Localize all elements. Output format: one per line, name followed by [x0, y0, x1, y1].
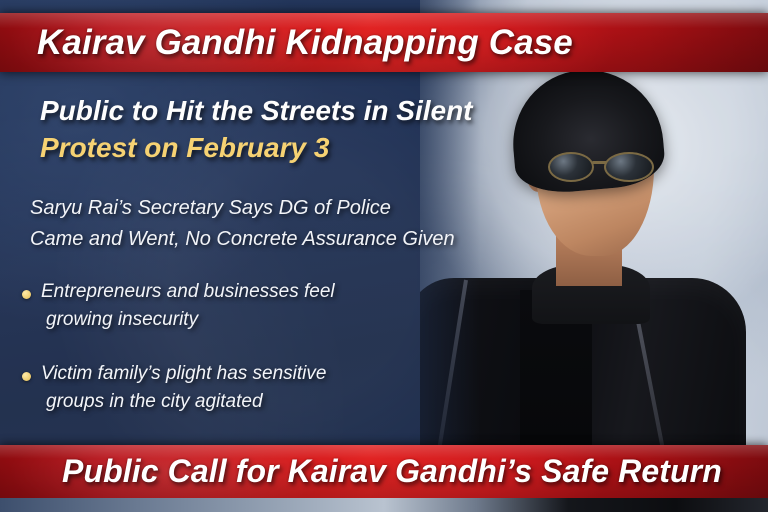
bullet-list: Entrepreneurs and businesses feel growin…	[22, 278, 422, 442]
list-item: Entrepreneurs and businesses feel growin…	[22, 278, 422, 334]
bullet-1-line-2: growing insecurity	[41, 306, 335, 334]
top-banner-title: Kairav Gandhi Kidnapping Case	[0, 13, 768, 72]
subheadline-line-2: Came and Went, No Concrete Assurance Giv…	[30, 224, 500, 255]
subheadline-line-1: Saryu Rai’s Secretary Says DG of Police	[30, 193, 500, 224]
headline-line-1: Public to Hit the Streets in Silent	[40, 92, 510, 129]
news-graphic-poster: Kairav Gandhi Kidnapping Case Public to …	[0, 0, 768, 512]
bottom-red-banner: Public Call for Kairav Gandhi’s Safe Ret…	[0, 445, 768, 498]
sunglasses-icon	[548, 150, 664, 184]
sunglasses-lens-right	[604, 152, 654, 182]
bullet-2-line-1: Victim family’s plight has sensitive	[41, 363, 326, 384]
bullet-1-line-1: Entrepreneurs and businesses feel	[41, 281, 335, 302]
top-red-banner: Kairav Gandhi Kidnapping Case	[0, 13, 768, 72]
bottom-edge-strip	[0, 498, 768, 512]
list-item: Victim family’s plight has sensitive gro…	[22, 360, 422, 416]
subheadline: Saryu Rai’s Secretary Says DG of Police …	[30, 193, 500, 255]
bullet-dot-icon	[22, 290, 31, 299]
bottom-banner-title: Public Call for Kairav Gandhi’s Safe Ret…	[0, 445, 768, 498]
bullet-2-line-2: groups in the city agitated	[41, 388, 326, 416]
headline: Public to Hit the Streets in Silent Prot…	[40, 92, 510, 166]
sunglasses-lens-left	[548, 152, 594, 182]
bullet-text: Entrepreneurs and businesses feel growin…	[41, 278, 335, 334]
headline-line-2: Protest on February 3	[40, 129, 510, 166]
bullet-text: Victim family’s plight has sensitive gro…	[41, 360, 326, 416]
bullet-dot-icon	[22, 372, 31, 381]
